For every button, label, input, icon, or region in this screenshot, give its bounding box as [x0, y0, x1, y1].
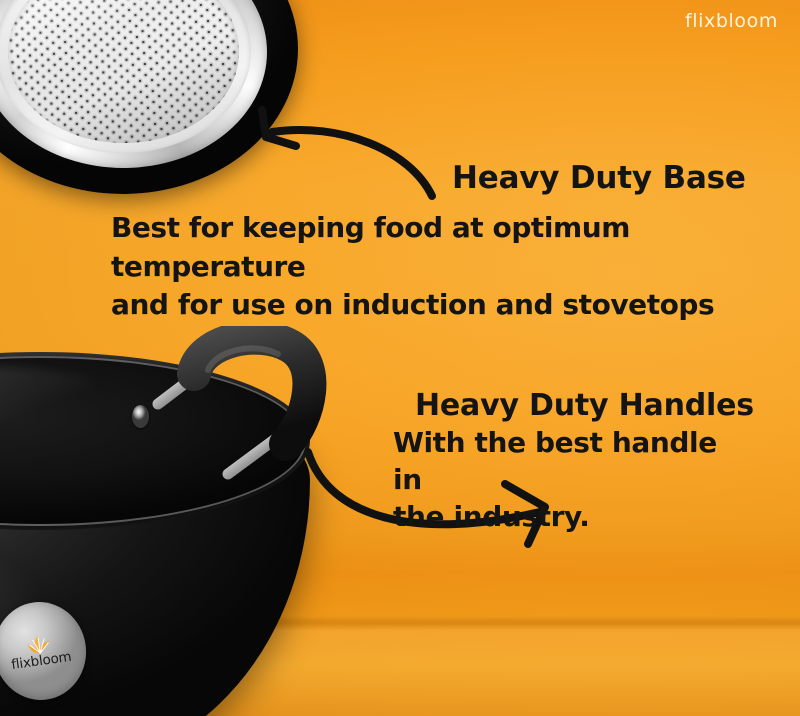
feature-2-heading: Heavy Duty Handles [415, 388, 754, 423]
base-disc-shading [8, 0, 239, 143]
feature-1-body: Best for keeping food at optimum tempera… [111, 209, 800, 325]
feature-2-body-line-2: the industry. [393, 498, 743, 535]
brand-wordmark: flixbloom [685, 10, 778, 32]
rim-rivet-icon [132, 405, 149, 428]
product-feature-image: flixbloom [0, 0, 800, 716]
feature-1-body-line-1: Best for keeping food at optimum tempera… [111, 209, 800, 286]
feature-1-body-line-2: and for use on induction and stovetops [111, 286, 800, 325]
induction-base-image [0, 0, 298, 194]
feature-2-body-line-1: With the best handle in [393, 424, 743, 498]
base-perforated-disc [8, 0, 239, 143]
handle-graphic [150, 326, 365, 506]
handle-arch [194, 338, 309, 444]
feature-2-body: With the best handle in the industry. [393, 424, 743, 536]
feature-1-heading: Heavy Duty Base [452, 160, 746, 196]
pot-handle-image [150, 326, 365, 506]
badge-wordmark: flixbloom [11, 651, 73, 673]
